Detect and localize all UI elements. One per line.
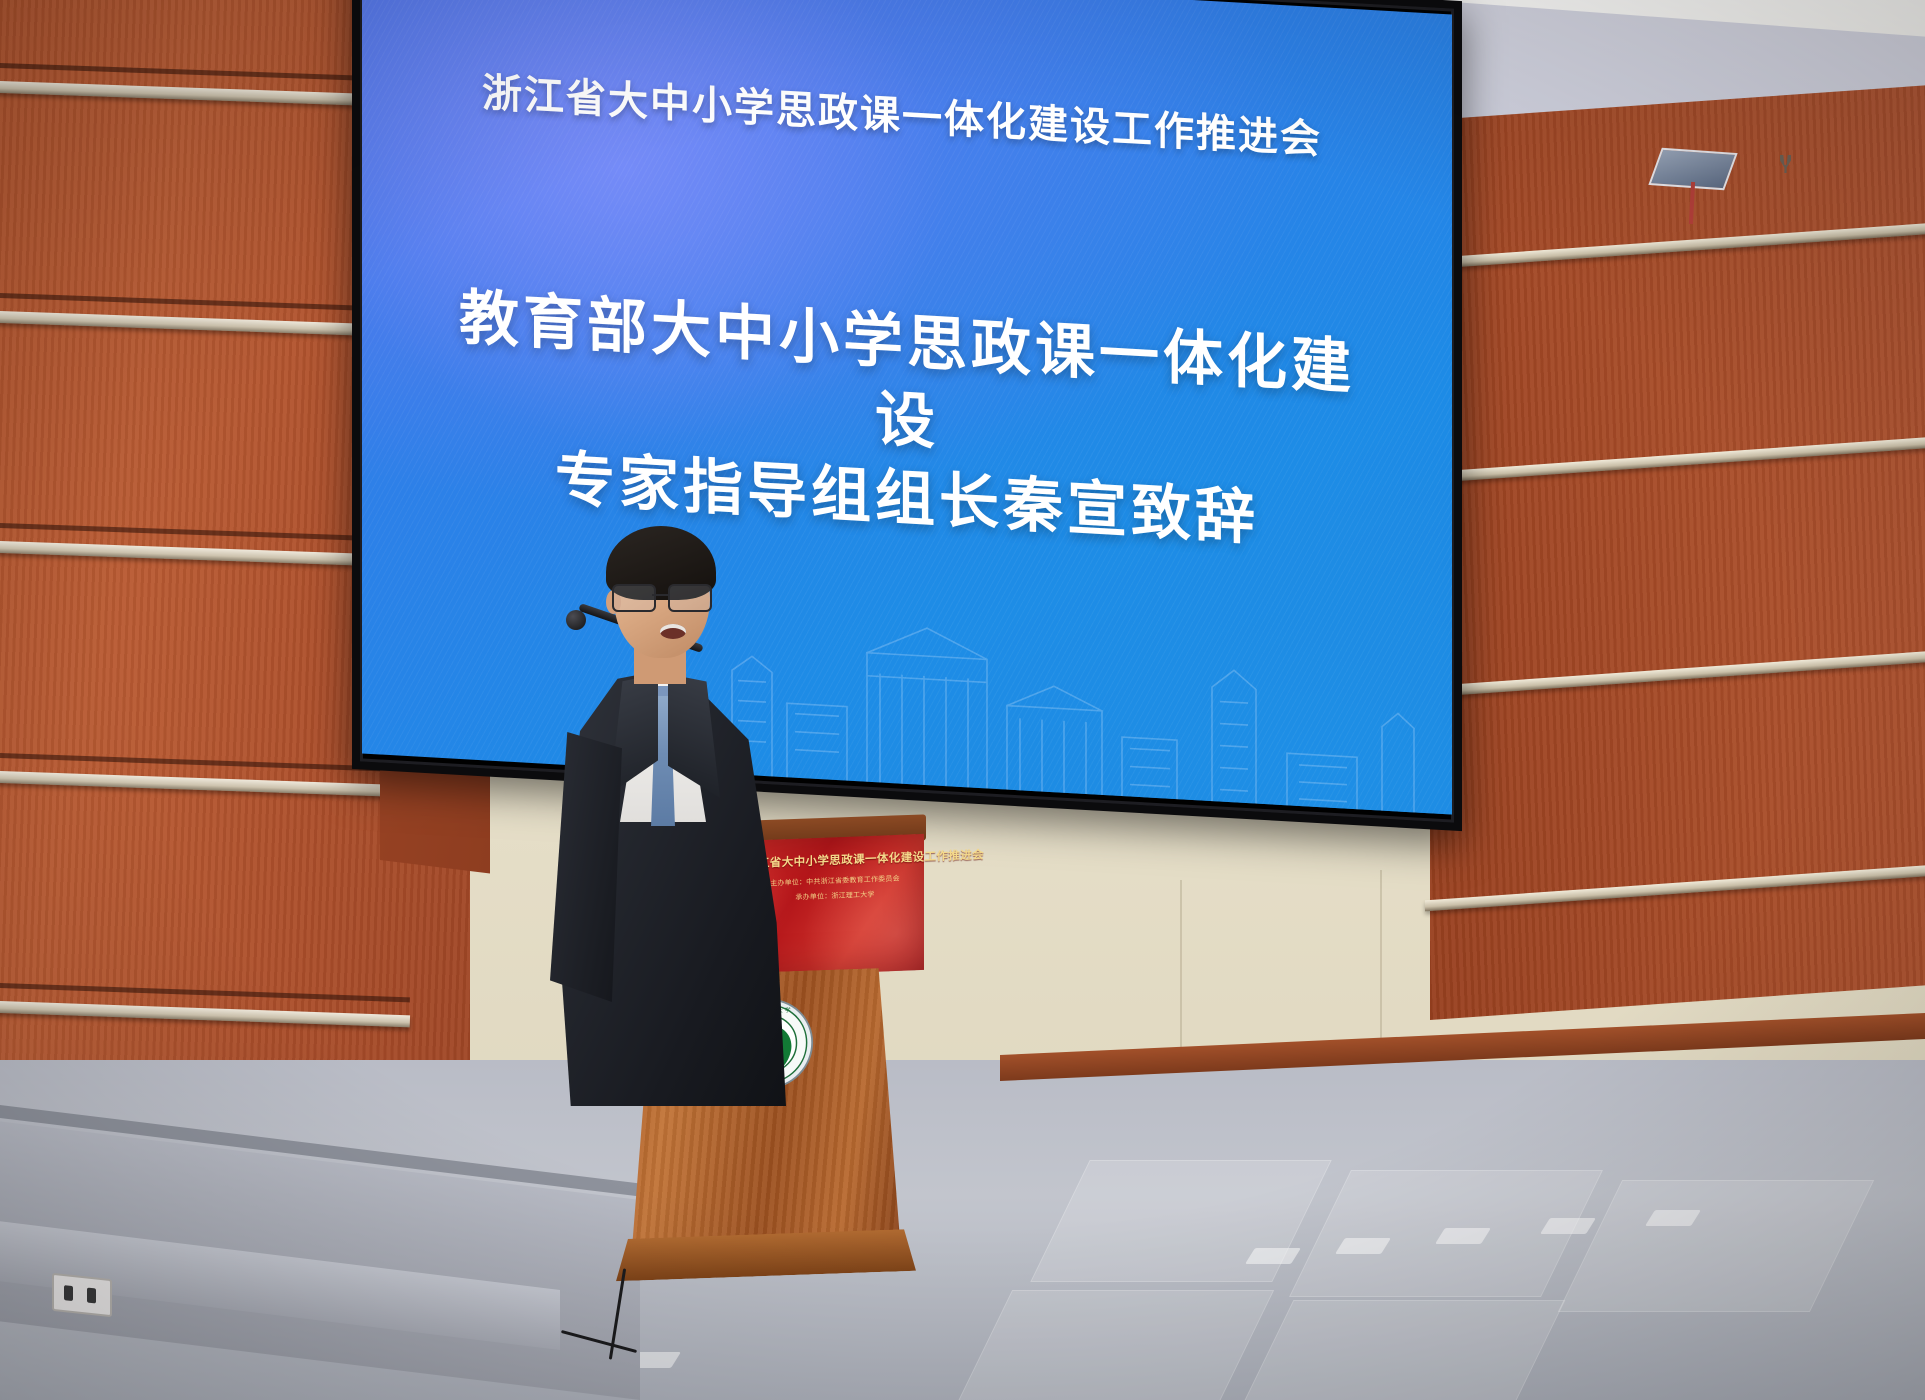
wall-trim-strip: [1425, 222, 1925, 269]
wall-trim-strip: [1425, 650, 1925, 697]
speaker: [548, 520, 808, 1120]
floor-power-socket: [52, 1273, 112, 1317]
photo-scene: 浙江省大中小学思政课一体化建设工作推进会 教育部大中小学思政课一体化建设 专家指…: [0, 0, 1925, 1400]
wall-trim-strip: [0, 771, 410, 798]
eyeglass-lens-right: [668, 584, 712, 612]
wall-seam: [1180, 880, 1182, 1070]
eyeglass-lens-left: [612, 584, 656, 612]
wall-trim-strip: [0, 311, 410, 338]
wall-trim-strip: [0, 1001, 410, 1028]
wall-trim-strip: [1425, 436, 1925, 483]
eyeglasses-icon: [610, 584, 716, 610]
wall-trim-strip: [0, 81, 410, 108]
wall-trim-strip: [1425, 864, 1925, 911]
wall-trim-strip: [0, 541, 410, 568]
screen-header-text: 浙江省大中小学思政课一体化建设工作推进会: [452, 59, 1352, 167]
wall-panel-gap: [0, 293, 410, 313]
wall-seam: [1380, 870, 1382, 1060]
floor-tile: [1558, 1180, 1874, 1312]
wall-panel-gap: [0, 63, 410, 83]
floor-tile: [1227, 1300, 1566, 1400]
wall-panel-gap: [0, 753, 410, 773]
speaker-arm: [550, 732, 622, 1002]
wall-panel-gap: [0, 983, 410, 1003]
speaker-mouth: [660, 624, 686, 639]
right-wood-wall: [1430, 85, 1925, 1020]
led-screen: 浙江省大中小学思政课一体化建设工作推进会 教育部大中小学思政课一体化建设 专家指…: [362, 0, 1452, 815]
wall-panel-gap: [0, 523, 410, 543]
floor-tile: [948, 1290, 1274, 1400]
